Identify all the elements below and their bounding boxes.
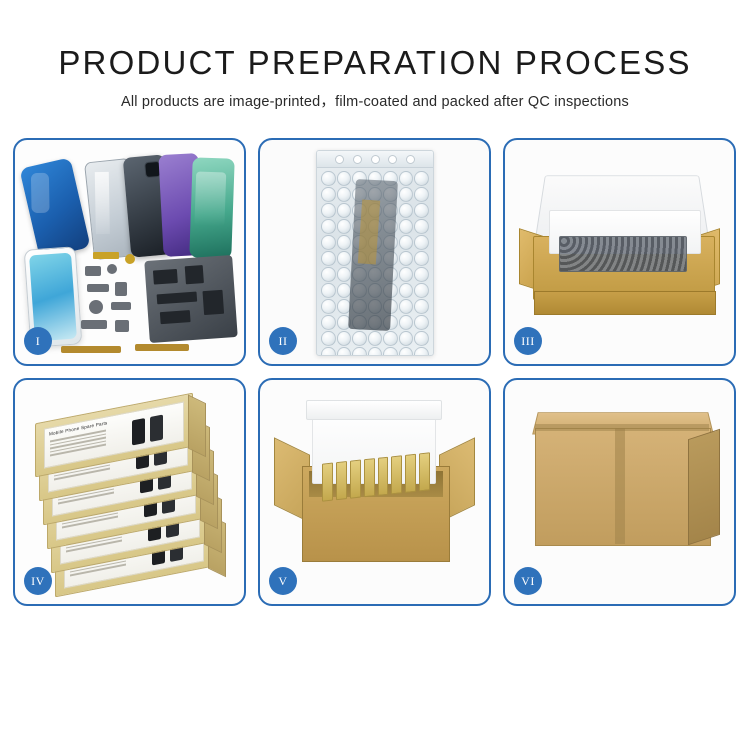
process-step-1: I (13, 138, 246, 366)
step-badge-6: VI (514, 567, 542, 595)
step-badge-1: I (24, 327, 52, 355)
green-phone (189, 157, 234, 258)
process-grid: I (13, 138, 737, 606)
small-part-4 (115, 282, 127, 296)
small-part-6 (111, 302, 131, 310)
chip-5 (160, 310, 191, 324)
flex-ribbon-2 (135, 344, 189, 351)
step-5-photo (260, 380, 489, 604)
blue-phone-shell (19, 157, 90, 258)
step-badge-2: II (269, 327, 297, 355)
process-step-5: V (258, 378, 491, 606)
box-label-phone-a-1 (132, 418, 145, 446)
small-part-5 (89, 300, 103, 314)
process-step-4: Mobile Phone Spare Parts Mobile Phone Sp… (13, 378, 246, 606)
screen-highlight (194, 171, 226, 226)
step-badge-3: III (514, 327, 542, 355)
flex-ribbon-1 (61, 346, 121, 353)
logic-board (144, 255, 238, 343)
small-part-2 (107, 264, 117, 274)
chip-3 (157, 292, 198, 305)
product-preparation-page: PRODUCT PREPARATION PROCESS All products… (0, 0, 750, 750)
foam-cooler-lid (306, 400, 442, 420)
bubble-wrap-insert (559, 236, 687, 272)
chip-1 (153, 269, 178, 285)
box-side-1 (188, 395, 206, 458)
small-part-3 (87, 284, 109, 292)
step-4-photo: Mobile Phone Spare Parts Mobile Phone Sp… (15, 380, 244, 604)
bag-vent-holes (335, 155, 415, 163)
process-step-6: VI (503, 378, 736, 606)
box-stack: Mobile Phone Spare Parts Mobile Phone Sp… (29, 398, 235, 590)
gold-contact-1 (93, 252, 119, 259)
small-part-8 (115, 320, 129, 332)
gold-contact-2 (125, 254, 135, 264)
page-title: PRODUCT PREPARATION PROCESS (0, 44, 750, 82)
carton-tape-horizontal (535, 424, 709, 431)
box-label-phone-b-1 (150, 414, 163, 442)
step-badge-4: IV (24, 567, 52, 595)
chip-4 (202, 290, 224, 315)
small-part-7 (81, 320, 107, 329)
box-front-panel (534, 291, 716, 315)
step-badge-5: V (269, 567, 297, 595)
process-step-3: III (503, 138, 736, 366)
chip-2 (185, 265, 204, 284)
sealed-carton-side (688, 429, 720, 545)
process-step-2: II (258, 138, 491, 366)
page-subtitle: All products are image-printed，film-coat… (0, 90, 750, 111)
step-3-photo (505, 140, 734, 364)
small-part-1 (85, 266, 101, 276)
step-1-photo (15, 140, 244, 364)
step-6-photo (505, 380, 734, 604)
carton-tape-vertical (615, 428, 625, 544)
step-2-photo (260, 140, 489, 364)
